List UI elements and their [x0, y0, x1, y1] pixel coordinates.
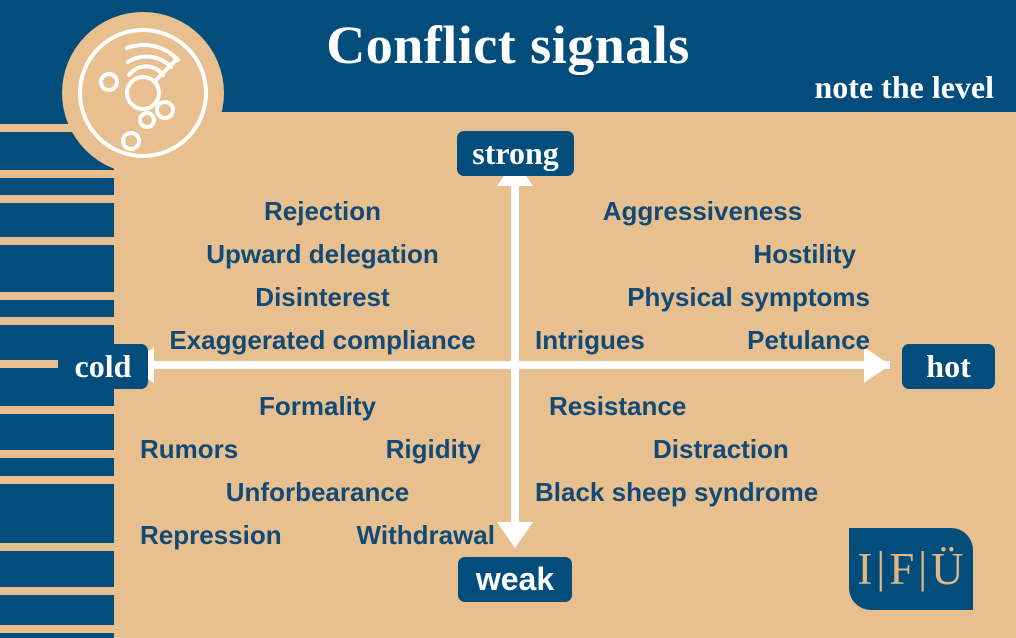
signal-item: Withdrawal: [357, 514, 495, 557]
logo-letter-u: Ü: [931, 543, 965, 595]
infographic-canvas: Conflict signals note the level strong w…: [0, 0, 1016, 638]
axis-label-cold: cold: [58, 344, 148, 389]
logo-letter-i: I: [857, 543, 873, 595]
signal-item: Rigidity: [386, 428, 495, 471]
arrow-down-icon: [497, 522, 533, 548]
signal-item: Distraction: [535, 428, 870, 471]
axis-label-strong: strong: [457, 131, 574, 176]
stripe-bar: [0, 633, 114, 638]
signal-item: Disinterest: [150, 276, 495, 319]
logo-separator: |: [915, 542, 931, 593]
quadrant-hot-strong: Aggressiveness Hostility Physical sympto…: [535, 190, 870, 362]
stripe-bar: [0, 245, 114, 292]
stripe-bar: [0, 203, 114, 237]
radar-signal-icon: [70, 20, 216, 166]
signal-item: Unforbearance: [140, 471, 495, 514]
signal-item: Rejection: [150, 190, 495, 233]
signal-item: Hostility: [535, 233, 870, 276]
signal-item: Aggressiveness: [535, 190, 870, 233]
signal-item: Petulance: [747, 319, 870, 362]
signal-item: Exaggerated compliance: [150, 319, 495, 362]
stripe-bar: [0, 595, 114, 625]
ifu-logo: I | F | Ü: [849, 528, 973, 610]
axis-label-weak: weak: [458, 557, 572, 602]
signal-item: Intrigues: [535, 319, 645, 362]
quadrant-cold-strong: Rejection Upward delegation Disinterest …: [150, 190, 495, 362]
horizontal-axis: [130, 361, 890, 369]
stripe-bar: [0, 458, 114, 476]
axis-label-hot: hot: [902, 344, 995, 389]
logo-separator: |: [873, 542, 889, 593]
header-subtitle: note the level: [815, 69, 995, 106]
signal-item: Black sheep syndrome: [535, 471, 870, 514]
signal-item: Rumors: [140, 428, 238, 471]
quadrant-hot-weak: Resistance Distraction Black sheep syndr…: [535, 385, 870, 514]
stripe-bar: [0, 484, 114, 543]
signal-item: Physical symptoms: [535, 276, 870, 319]
quadrant-cold-weak: Formality Rumors Rigidity Unforbearance …: [140, 385, 495, 557]
logo-letter-f: F: [889, 543, 915, 595]
stripe-bar: [0, 414, 114, 450]
stripe-bar: [0, 551, 114, 587]
signal-item: Repression: [140, 514, 282, 557]
vertical-axis: [511, 178, 519, 530]
signal-item: Upward delegation: [150, 233, 495, 276]
stripe-bar: [0, 300, 114, 317]
stripe-bar: [0, 178, 114, 195]
signal-item: Resistance: [535, 385, 870, 428]
signal-item: Formality: [140, 385, 495, 428]
